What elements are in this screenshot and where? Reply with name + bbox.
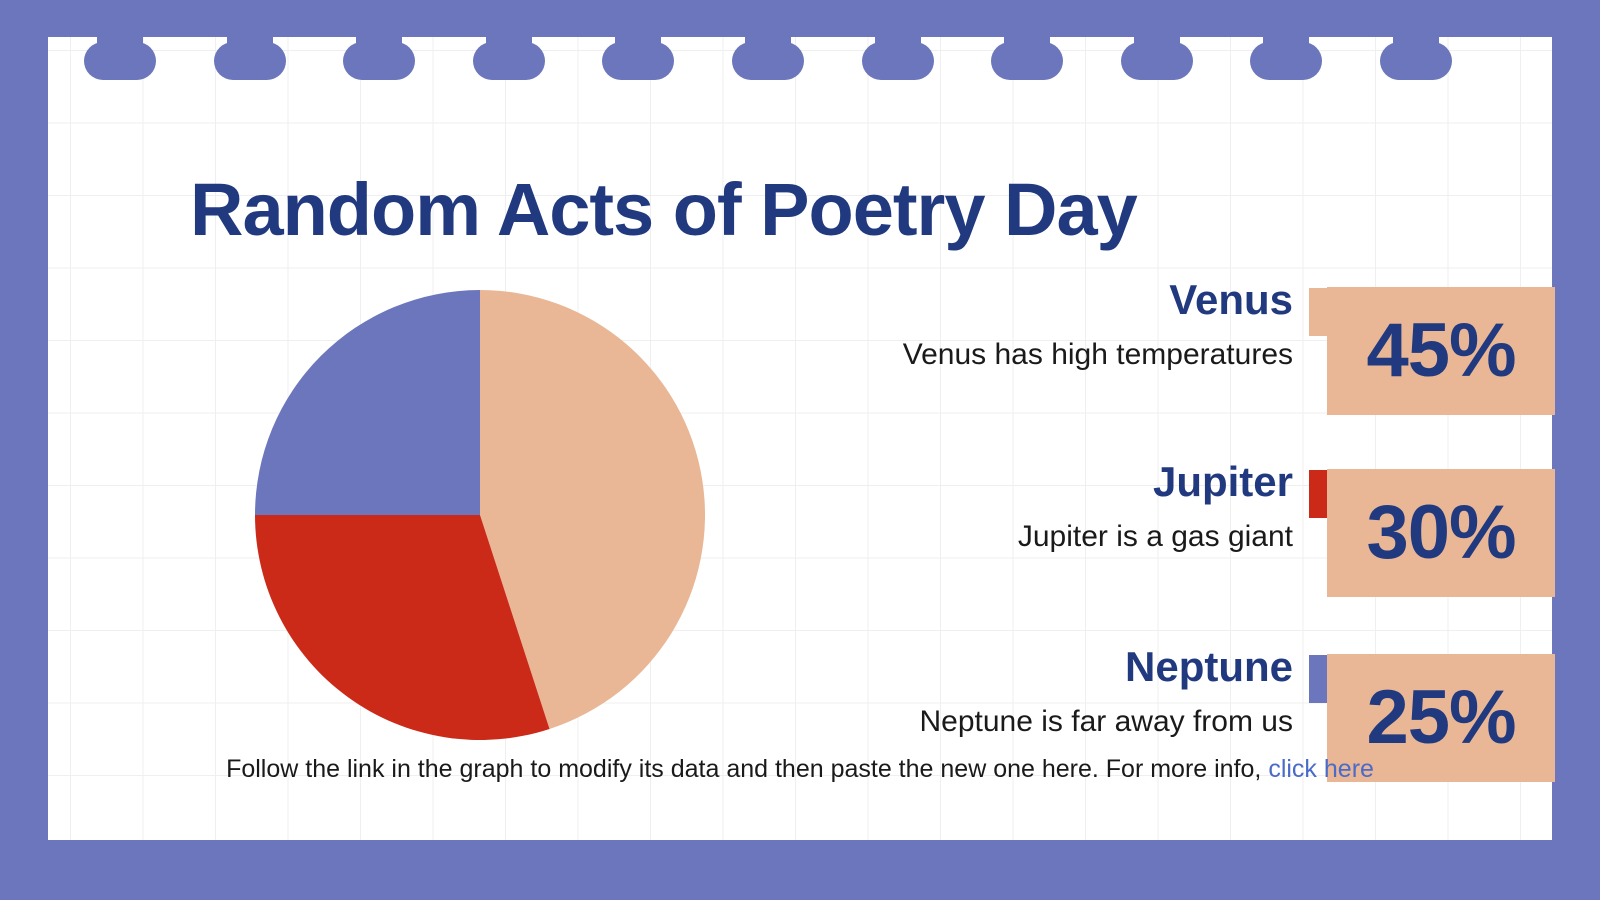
footer-link[interactable]: click here bbox=[1268, 755, 1374, 783]
pie-chart[interactable] bbox=[255, 290, 705, 740]
legend-item-venus[interactable]: Venus Venus has high temperatures 45% bbox=[748, 275, 1538, 415]
slide-canvas: Random Acts of Poetry Day Venus Venus ha… bbox=[0, 0, 1600, 900]
pie-chart-svg bbox=[255, 290, 705, 740]
footer-text: Follow the link in the graph to modify i… bbox=[226, 755, 1268, 783]
legend-text-column-neptune: Neptune Neptune is far away from us bbox=[773, 642, 1293, 741]
percent-value-venus: 45% bbox=[1327, 287, 1555, 415]
legend-description-venus: Venus has high temperatures bbox=[773, 335, 1293, 375]
legend-description-neptune: Neptune is far away from us bbox=[773, 702, 1293, 742]
legend-text-column-venus: Venus Venus has high temperatures bbox=[773, 275, 1293, 374]
legend-item-jupiter[interactable]: Jupiter Jupiter is a gas giant 30% bbox=[748, 457, 1538, 597]
legend-text-column-jupiter: Jupiter Jupiter is a gas giant bbox=[773, 457, 1293, 556]
legend-title-venus: Venus bbox=[773, 275, 1293, 325]
page-title: Random Acts of Poetry Day bbox=[190, 171, 1137, 249]
legend-title-neptune: Neptune bbox=[773, 642, 1293, 692]
percent-box-jupiter: 30% bbox=[1327, 469, 1555, 597]
notebook-page: Random Acts of Poetry Day Venus Venus ha… bbox=[48, 37, 1552, 840]
footer-note: Follow the link in the graph to modify i… bbox=[48, 755, 1552, 784]
percent-box-venus: 45% bbox=[1327, 287, 1555, 415]
pie-slice-neptune[interactable] bbox=[255, 290, 480, 515]
percent-value-jupiter: 30% bbox=[1327, 469, 1555, 597]
legend-description-jupiter: Jupiter is a gas giant bbox=[773, 517, 1293, 557]
legend-title-jupiter: Jupiter bbox=[773, 457, 1293, 507]
